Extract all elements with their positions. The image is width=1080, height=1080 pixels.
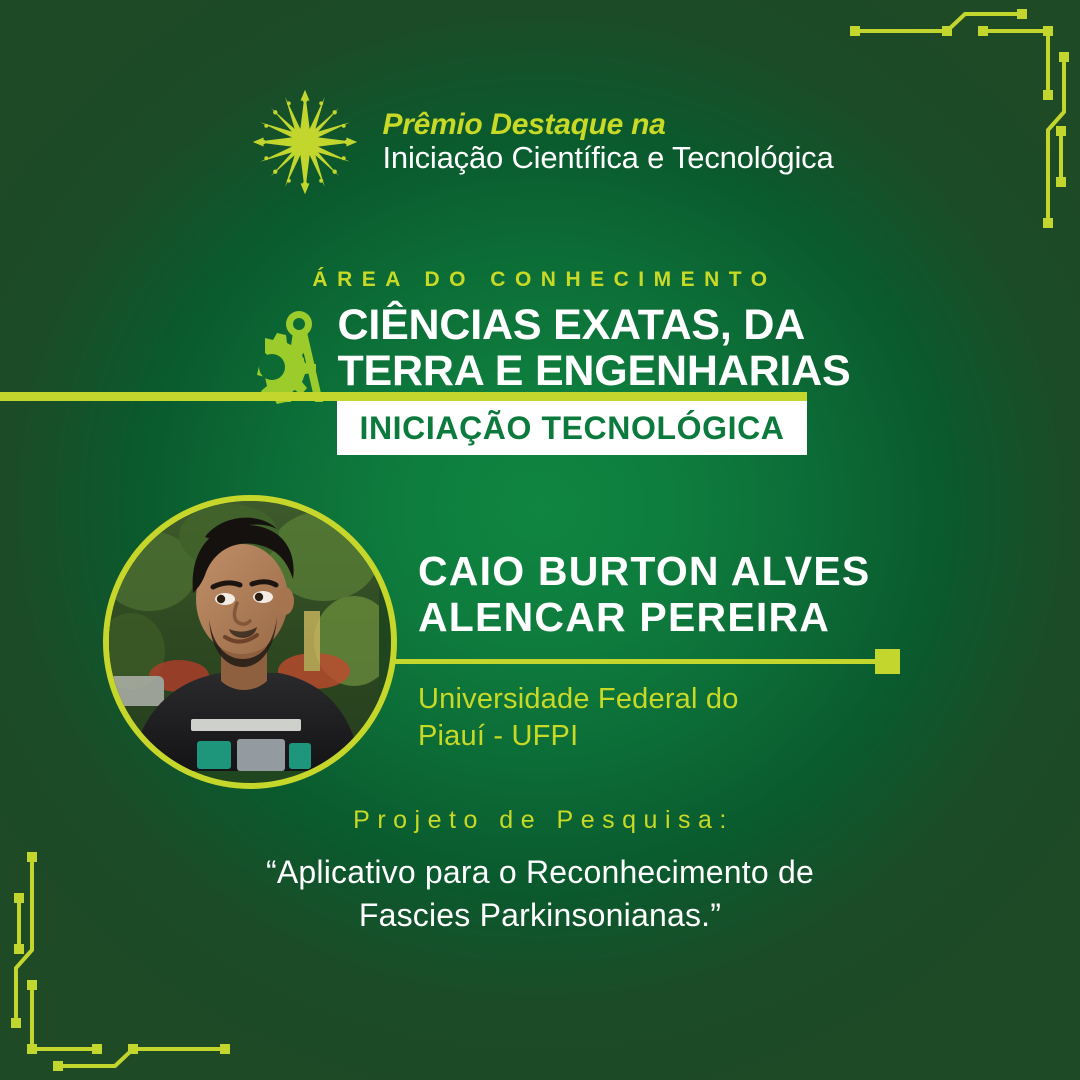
- knowledge-area-label: ÁREA DO CONHECIMENTO: [0, 268, 1080, 292]
- accent-rule: [0, 392, 807, 401]
- awardee-name: CAIO BURTON ALVES ALENCAR PEREIRA: [418, 548, 938, 641]
- award-poster: Prêmio Destaque na Iniciação Científica …: [0, 0, 1080, 1080]
- student-portrait-photo: [109, 501, 379, 771]
- awardee-photo: [103, 495, 397, 789]
- awardee-details: CAIO BURTON ALVES ALENCAR PEREIRA Univer…: [418, 548, 938, 755]
- award-title-line2: Iniciação Científica e Tecnológica: [382, 142, 833, 174]
- project-label: Projeto de Pesquisa:: [0, 806, 1080, 835]
- awardee-name-rule: [395, 659, 878, 664]
- project-title-line2: Fascies Parkinsonianas.”: [0, 894, 1080, 937]
- modality-label: INICIAÇÃO TECNOLÓGICA: [359, 410, 784, 447]
- knowledge-area-title: CIÊNCIAS EXATAS, DA TERRA E ENGENHARIAS: [337, 298, 850, 394]
- project-block: Projeto de Pesquisa: “Aplicativo para o …: [0, 806, 1080, 936]
- award-logo-text: Prêmio Destaque na Iniciação Científica …: [382, 110, 833, 174]
- compass-rose-star-icon: [246, 88, 364, 196]
- awardee-name-line2: ALENCAR PEREIRA: [418, 594, 938, 640]
- knowledge-area-block: ÁREA DO CONHECIMENTO: [0, 268, 1080, 406]
- project-title: “Aplicativo para o Reconhecimento de Fas…: [0, 851, 1080, 936]
- knowledge-area-row: CIÊNCIAS EXATAS, DA TERRA E ENGENHARIAS: [0, 298, 1080, 406]
- project-title-line1: “Aplicativo para o Reconhecimento de: [0, 851, 1080, 894]
- knowledge-area-title-line1: CIÊNCIAS EXATAS, DA: [337, 302, 850, 348]
- awardee-name-line1: CAIO BURTON ALVES: [418, 548, 938, 594]
- modality-badge: INICIAÇÃO TECNOLÓGICA: [337, 401, 807, 455]
- knowledge-area-title-line2: TERRA E ENGENHARIAS: [337, 348, 850, 394]
- awardee-institution-line2: Piauí - UFPI: [418, 718, 938, 755]
- awardee-institution-line1: Universidade Federal do: [418, 681, 938, 718]
- award-logo: Prêmio Destaque na Iniciação Científica …: [0, 88, 1080, 196]
- awardee-institution: Universidade Federal do Piauí - UFPI: [418, 681, 938, 755]
- award-title-line1: Prêmio Destaque na: [382, 110, 833, 141]
